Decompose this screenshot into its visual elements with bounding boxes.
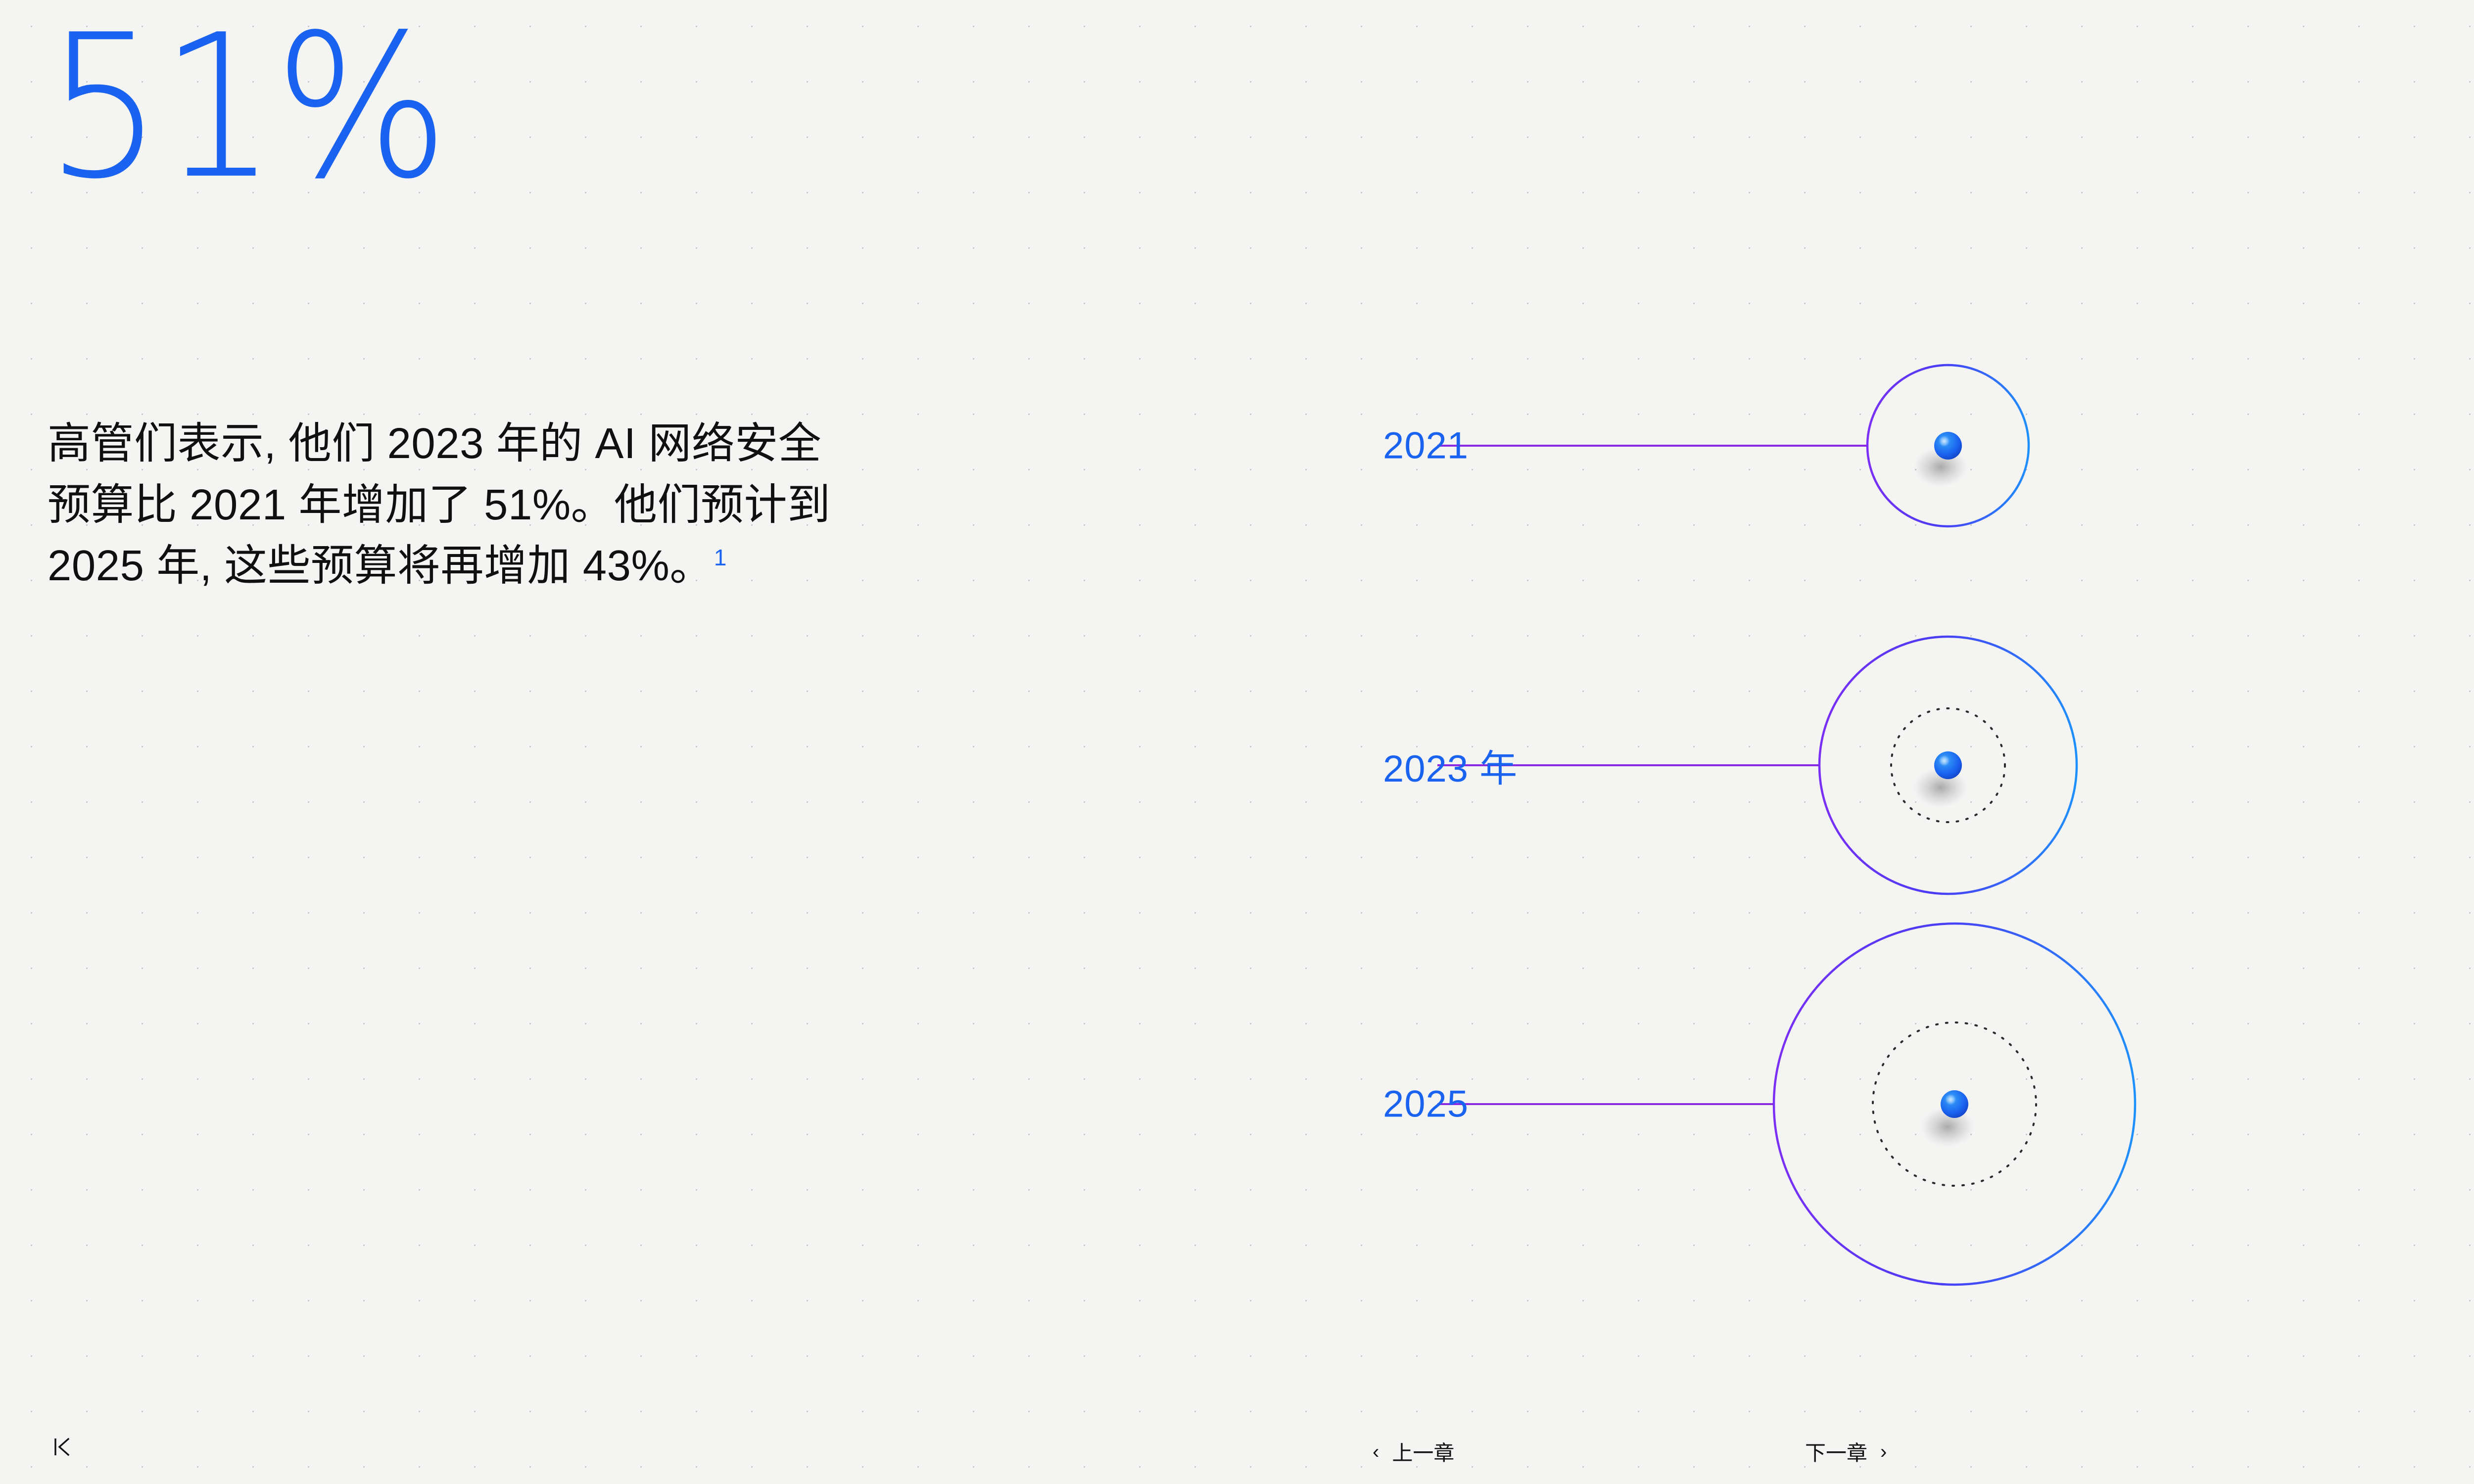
bubble-ring-2021 [1867,365,2029,526]
bubble-inner-dotted-ring-2025 [1873,1022,2036,1186]
bubble-group-2021[interactable] [1437,365,2029,526]
chevron-right-icon: › [1880,1442,1887,1462]
bubble-size-diagram [0,0,2474,1484]
chevron-left-icon: ‹ [1373,1442,1379,1462]
bubble-label-2023[interactable]: 2023 年 [1383,738,1518,792]
marker-shadow-2023 [1914,768,1967,807]
page-headline-statistic: 51% [46,9,446,207]
bubble-label-2025[interactable]: 2025 [1383,1083,1469,1126]
next-chapter-label: 下一章 [1805,1437,1867,1467]
marker-sphere-2021 [1934,432,1962,460]
footer-navigation-bar: ‹ 上一章 下一章 › 8 [0,1415,2474,1484]
body-paragraph: 高管们表示, 他们 2023 年的 AI 网络安全预算比 2021 年增加了 5… [48,413,839,597]
marker-shadow-2021 [1914,447,1967,487]
marker-highlight-2021 [1939,436,1950,447]
bubble-inner-dotted-ring-2023 [1891,708,2005,822]
skip-to-start-button[interactable] [53,1436,70,1458]
previous-chapter-button[interactable]: ‹ 上一章 [1373,1437,1454,1467]
marker-shadow-2025 [1921,1107,1974,1147]
footnote-reference[interactable]: 1 [714,545,727,570]
previous-chapter-label: 上一章 [1392,1437,1454,1467]
body-paragraph-text: 高管们表示, 他们 2023 年的 AI 网络安全预算比 2021 年增加了 5… [48,419,831,590]
bubble-label-2021[interactable]: 2021 [1383,424,1469,467]
marker-sphere-2023 [1934,751,1962,779]
bubble-ring-2025 [1774,924,2135,1285]
bubble-group-2025[interactable] [1437,924,2135,1285]
bubble-ring-2023 [1819,637,2077,894]
dotted-background-pattern [0,0,2474,1484]
marker-sphere-2025 [1941,1090,1968,1118]
marker-highlight-2023 [1939,755,1950,766]
next-chapter-button[interactable]: 下一章 › [1805,1437,1887,1467]
bubble-group-2023[interactable] [1437,637,2077,894]
skip-to-start-icon [53,1436,70,1458]
marker-highlight-2025 [1945,1094,1956,1105]
